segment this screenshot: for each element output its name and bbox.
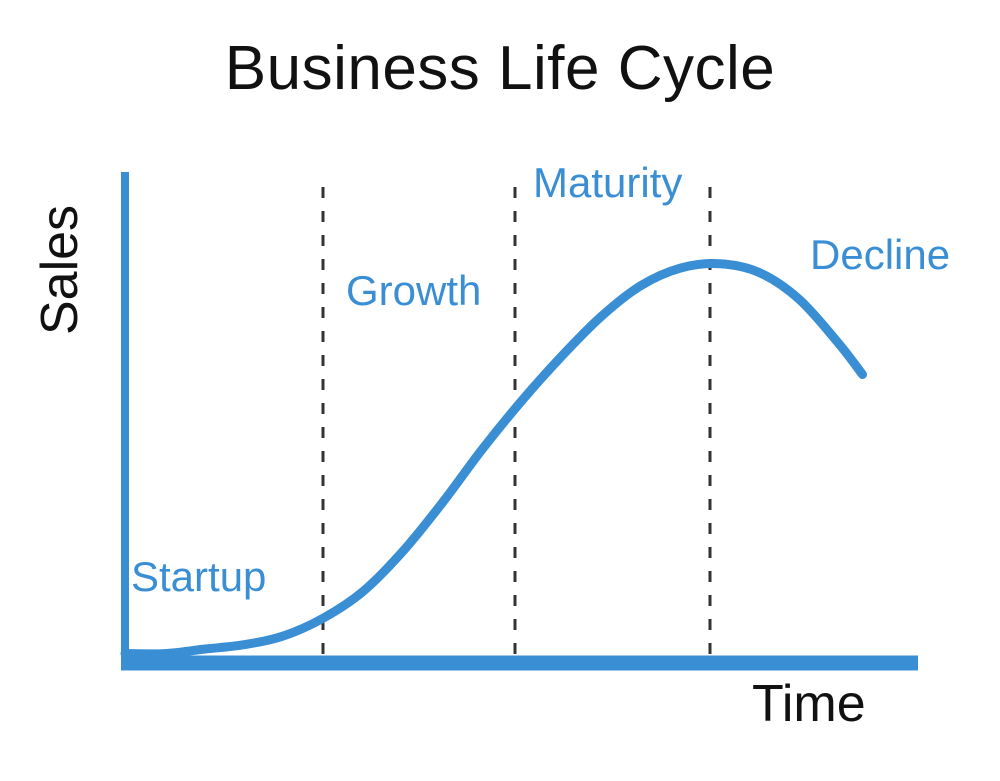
stage-label-decline: Decline [810,234,950,276]
business-life-cycle-chart: Business Life Cycle Sales Time Startup G… [0,0,1000,781]
stage-label-maturity: Maturity [533,162,682,204]
x-axis-title: Time [752,678,866,730]
y-axis-title-label: Sales [34,205,86,335]
y-axis-title: Sales [0,190,120,350]
stage-label-startup: Startup [131,556,266,598]
stage-label-growth: Growth [346,270,481,312]
plot-area [0,0,1000,781]
